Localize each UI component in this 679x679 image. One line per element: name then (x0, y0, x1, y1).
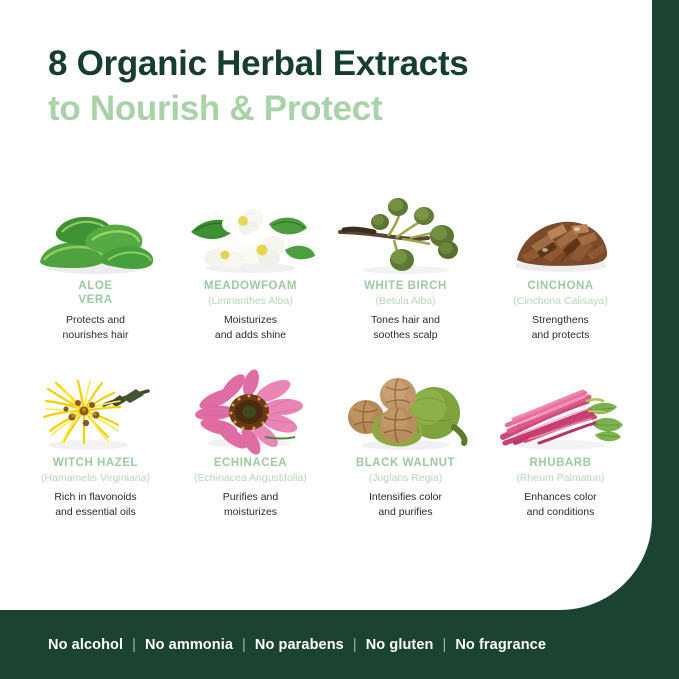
white-content-panel: 8 Organic Herbal Extracts to Nourish & P… (0, 0, 652, 610)
herb-card-cinchona: CINCHONA (Cinchona Calisaya) Strengthens… (483, 188, 638, 343)
herb-name: ALOE VERA (78, 280, 112, 307)
herb-description: Enhances color and conditions (524, 490, 596, 520)
herb-description: Purifies and moisturizes (223, 490, 278, 520)
title-line-primary: 8 Organic Herbal Extracts (48, 44, 628, 85)
herb-latin-name: (Betula Alba) (375, 295, 435, 308)
claim-item: No alcohol (48, 637, 123, 653)
herb-latin-name: (Limnanthes Alba) (208, 295, 293, 308)
herb-name: WITCH HAZEL (53, 457, 138, 471)
claim-item: No fragrance (455, 637, 546, 653)
herb-card-rhubarb: RHUBARB (Rheum Palmatun) Enhances color … (483, 365, 638, 520)
herb-latin-name: (Rheum Palmatun) (516, 472, 604, 485)
herb-latin-name: (Hamamelis Virginiana) (41, 472, 150, 485)
herb-latin-name: (Cinchona Calisaya) (513, 295, 608, 308)
cinchona-bark-chips-icon (491, 188, 631, 278)
herb-grid: ALOE VERA Protects and nourishes hair (18, 188, 638, 519)
claim-item: No gluten (366, 637, 434, 653)
herb-card-black-walnut: BLACK WALNUT (Juglans Regia) Intensifies… (328, 365, 483, 520)
claim-item: No parabens (255, 637, 344, 653)
infographic-poster: 8 Organic Herbal Extracts to Nourish & P… (0, 0, 679, 679)
herb-card-witch-hazel: WITCH HAZEL (Hamamelis Virginiana) Rich … (18, 365, 173, 520)
rhubarb-stalks-icon (491, 365, 631, 455)
herb-name: BLACK WALNUT (356, 457, 455, 471)
claims-list: No alcohol | No ammonia | No parabens | … (0, 637, 546, 653)
herb-description: Protects and nourishes hair (63, 313, 129, 343)
herb-description: Intensifies color and purifies (369, 490, 442, 520)
herb-card-white-birch: WHITE BIRCH (Betula Alba) Tones hair and… (328, 188, 483, 343)
herb-description: Moisturizes and adds shine (215, 313, 286, 343)
claim-separator: | (233, 637, 255, 653)
herb-name: ECHINACEA (214, 457, 287, 471)
herb-description: Rich in flavonoids and essential oils (54, 490, 136, 520)
herb-card-meadowfoam: MEADOWFOAM (Limnanthes Alba) Moisturizes… (173, 188, 328, 343)
herb-name: CINCHONA (527, 280, 593, 294)
white-birch-catkins-icon (336, 188, 476, 278)
claim-item: No ammonia (145, 637, 233, 653)
claim-separator: | (344, 637, 366, 653)
meadowfoam-white-flowers-icon (181, 188, 321, 278)
herb-latin-name: (Echinacea Angustifolia) (194, 472, 307, 485)
claim-separator: | (433, 637, 455, 653)
herb-name: WHITE BIRCH (364, 280, 447, 294)
claim-separator: | (123, 637, 145, 653)
herb-description: Strengthens and protects (532, 313, 590, 343)
title-line-secondary: to Nourish & Protect (48, 89, 628, 130)
herb-name: RHUBARB (530, 457, 592, 471)
echinacea-pink-coneflower-icon (181, 365, 321, 455)
aloe-vera-leaves-icon (26, 188, 166, 278)
herb-card-aloe-vera: ALOE VERA Protects and nourishes hair (18, 188, 173, 343)
witch-hazel-yellow-flower-icon (26, 365, 166, 455)
free-from-claims-band: No alcohol | No ammonia | No parabens | … (0, 610, 679, 679)
black-walnut-nuts-icon (336, 365, 476, 455)
herb-card-echinacea: ECHINACEA (Echinacea Angustifolia) Purif… (173, 365, 328, 520)
herb-description: Tones hair and soothes scalp (371, 313, 440, 343)
herb-latin-name: (Juglans Regia) (369, 472, 443, 485)
page-title: 8 Organic Herbal Extracts to Nourish & P… (48, 44, 628, 129)
herb-name: MEADOWFOAM (204, 280, 297, 294)
